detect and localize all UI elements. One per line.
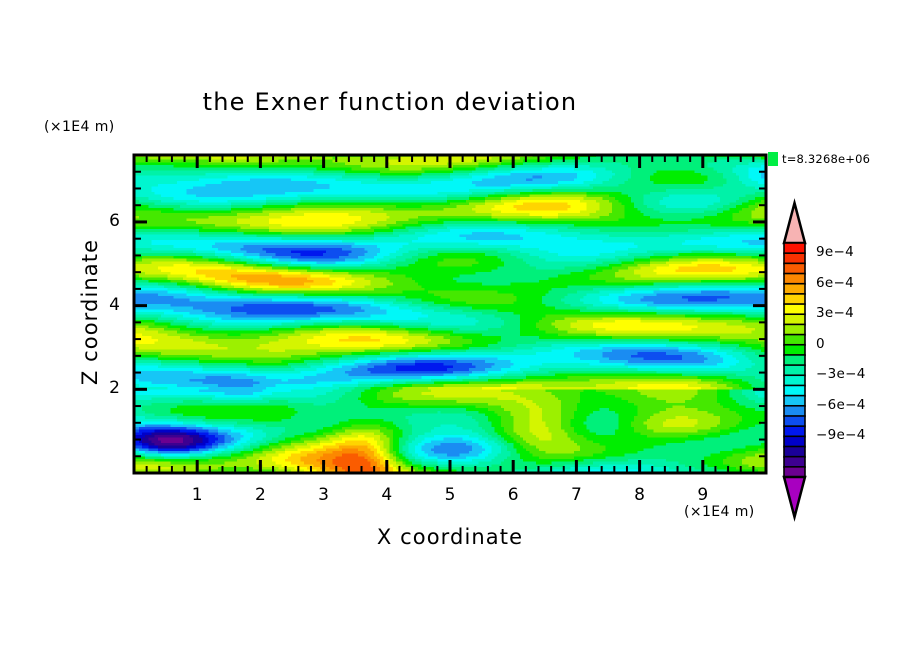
colorbar-band	[784, 365, 805, 376]
colorbar-band	[784, 274, 805, 285]
x-tick-label: 8	[610, 485, 670, 505]
colorbar-band	[784, 406, 805, 417]
colorbar	[784, 203, 805, 517]
colorbar-band	[784, 263, 805, 274]
colorbar-band	[784, 375, 805, 386]
colorbar-band	[784, 446, 805, 457]
colorbar-band	[784, 243, 805, 254]
y-axis-unit-label: (×1E4 m)	[44, 119, 115, 135]
colorbar-band	[784, 457, 805, 468]
colorbar-band	[784, 324, 805, 335]
x-axis-title: X coordinate	[290, 525, 610, 549]
contour-plot-figure: the Exner function deviation (×1E4 m) (×…	[0, 0, 904, 654]
colorbar-tick-label: −9e−4	[816, 427, 866, 443]
x-tick-label: 4	[357, 485, 417, 505]
x-tick-label: 7	[546, 485, 606, 505]
x-tick-label: 2	[230, 485, 290, 505]
colorbar-band	[784, 314, 805, 325]
colorbar-band	[784, 294, 805, 305]
colorbar-band	[784, 304, 805, 315]
colorbar-band	[784, 385, 805, 396]
colorbar-tick-label: 9e−4	[816, 244, 854, 260]
y-tick-label: 2	[72, 378, 120, 398]
x-axis-unit-label: (×1E4 m)	[684, 504, 755, 520]
colorbar-over-arrow	[784, 203, 805, 243]
colorbar-band	[784, 396, 805, 407]
page-title: the Exner function deviation	[0, 88, 780, 116]
colorbar-tick-label: 0	[816, 336, 825, 352]
colorbar-tick-label: −6e−4	[816, 397, 866, 413]
x-tick-label: 3	[294, 485, 354, 505]
contour-field	[132, 154, 768, 475]
x-tick-label: 1	[167, 485, 227, 505]
y-tick-label: 6	[72, 211, 120, 231]
colorbar-band	[784, 426, 805, 437]
colorbar-band	[784, 355, 805, 366]
colorbar-band	[784, 335, 805, 346]
colorbar-band	[784, 253, 805, 264]
colorbar-band	[784, 284, 805, 295]
colorbar-band	[784, 416, 805, 427]
x-tick-label: 5	[420, 485, 480, 505]
y-tick-label: 4	[72, 295, 120, 315]
timestamp-annotation: t=8.3268e+06	[782, 152, 870, 166]
colorbar-tick-label: −3e−4	[816, 366, 866, 382]
x-tick-label: 6	[483, 485, 543, 505]
colorbar-tick-label: 6e−4	[816, 275, 854, 291]
colorbar-under-arrow	[784, 477, 805, 517]
colorbar-band	[784, 345, 805, 356]
x-tick-label: 9	[673, 485, 733, 505]
colorbar-band	[784, 436, 805, 447]
timestamp-color-swatch	[768, 152, 778, 166]
colorbar-tick-label: 3e−4	[816, 305, 854, 321]
